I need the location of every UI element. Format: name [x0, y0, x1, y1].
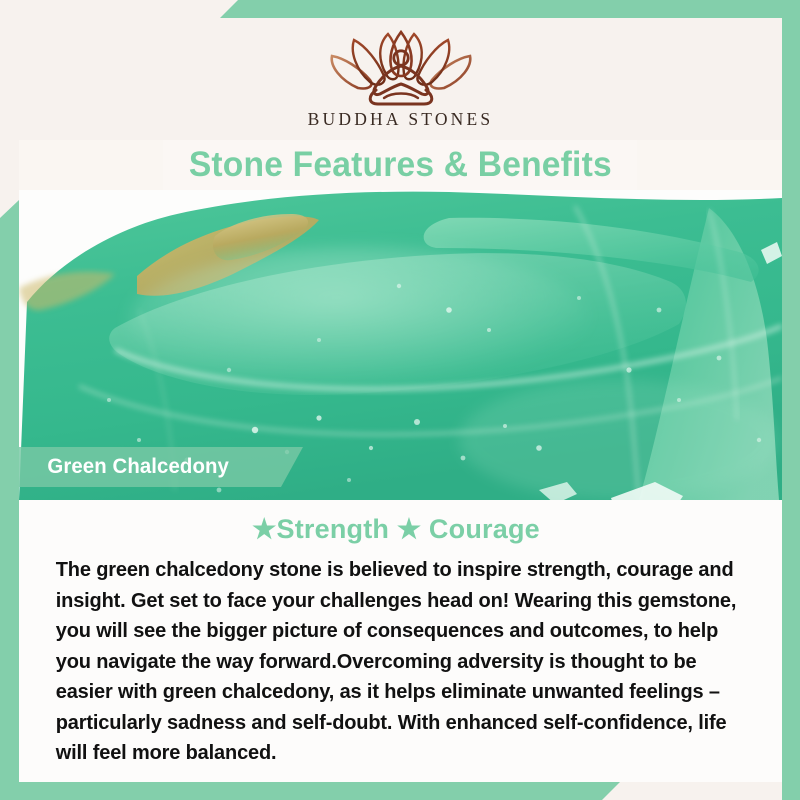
- benefits-headline: ★Strength ★ Courage: [38, 514, 754, 545]
- frame-bottom-bar: [0, 782, 620, 800]
- frame-top-bar: [220, 0, 800, 18]
- page-title: Stone Features & Benefits: [188, 145, 611, 185]
- brand-header: BUDDHA STONES: [19, 18, 782, 140]
- stone-name-label: Green Chalcedony: [22, 455, 229, 479]
- frame-right-bar: [782, 0, 800, 800]
- brand-name: BUDDHA STONES: [308, 109, 494, 130]
- poster-root: Green Chalcedony: [0, 0, 800, 800]
- benefits-section: ★Strength ★ Courage The green chalcedony…: [19, 500, 782, 782]
- benefits-description: The green chalcedony stone is believed t…: [38, 555, 743, 769]
- title-banner: Stone Features & Benefits: [163, 140, 637, 190]
- lotus-meditation-icon: [326, 28, 476, 106]
- benefits-headline-text: ★Strength ★ Courage: [252, 514, 540, 544]
- stone-name-banner: Green Chalcedony: [19, 447, 303, 487]
- frame-left-bar: [0, 200, 19, 800]
